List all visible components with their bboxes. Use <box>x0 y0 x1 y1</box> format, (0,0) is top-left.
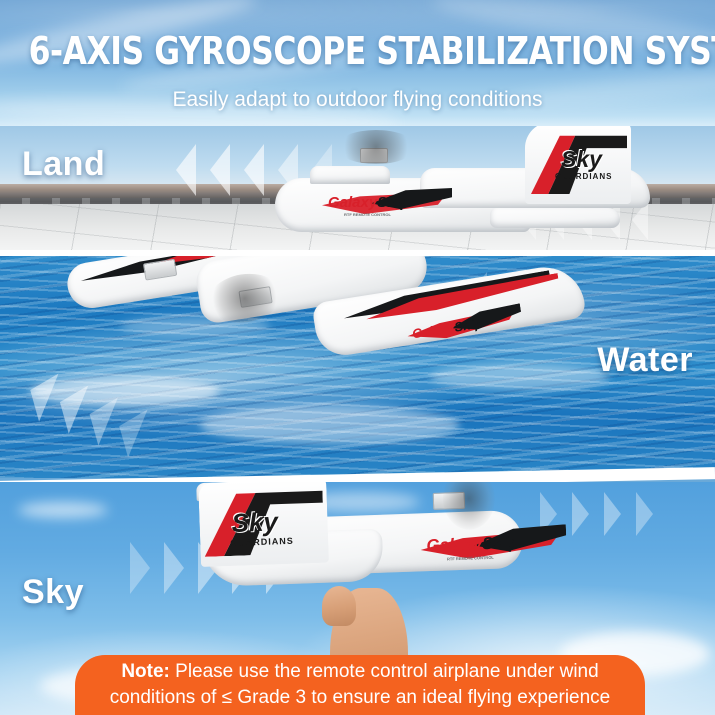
panel-water: Water Sky GUARDIANS <box>0 256 715 478</box>
decal-word-ship: Ship <box>482 533 519 553</box>
water-foam <box>430 364 610 390</box>
note-line-1: Note: Please use the remote control airp… <box>75 659 645 685</box>
water-foam <box>30 376 220 406</box>
decal-word-ship: Ship <box>377 194 410 211</box>
tail-sublogo-text: GUARDIANS <box>555 172 612 181</box>
header-sky-banner: 6-AXIS GYROSCOPE STABILIZATION SYSTEM Ea… <box>0 0 715 126</box>
headline-subtitle: Easily adapt to outdoor flying condition… <box>0 87 715 113</box>
hand-finger <box>322 586 356 626</box>
product-feature-image: 6-AXIS GYROSCOPE STABILIZATION SYSTEM Ea… <box>0 0 715 715</box>
propeller <box>336 130 416 164</box>
note-line-2: conditions of ≤ Grade 3 to ensure an ide… <box>75 685 645 711</box>
note-prefix: Note: <box>121 661 170 682</box>
tail-logo-text: Sky <box>231 506 278 539</box>
panel-label-sky: Sky <box>22 574 84 610</box>
panel-label-water: Water <box>597 342 693 378</box>
panel-label-land: Land <box>22 146 105 182</box>
decal-word-galaxy: Galaxy <box>426 534 482 555</box>
decal-subtext: RTF REMOTE CONTROL <box>447 555 494 562</box>
tail-logo-text: Sky <box>561 146 602 173</box>
decal-word-galaxy: Galaxy <box>411 320 455 341</box>
note-line-1-text: Please use the remote control airplane u… <box>170 661 599 682</box>
decal-subtext: RTF REMOTE CONTROL <box>344 212 391 217</box>
water-foam <box>200 406 460 444</box>
cloud <box>18 502 108 518</box>
note-banner: Note: Please use the remote control airp… <box>75 655 645 715</box>
headline-title: 6-AXIS GYROSCOPE STABILIZATION SYSTEM <box>29 31 687 71</box>
decal-word-ship: Ship <box>453 315 483 334</box>
fuselage-decal-sky: GalaxyShip RTF REMOTE CONTROL <box>420 524 567 565</box>
decal-word-galaxy: Galaxy <box>328 194 377 211</box>
panel-land: Land Sky GUARDIANS <box>0 126 715 252</box>
fuselage-decal-land: GalaxyShip RTF REMOTE CONTROL <box>322 188 452 220</box>
